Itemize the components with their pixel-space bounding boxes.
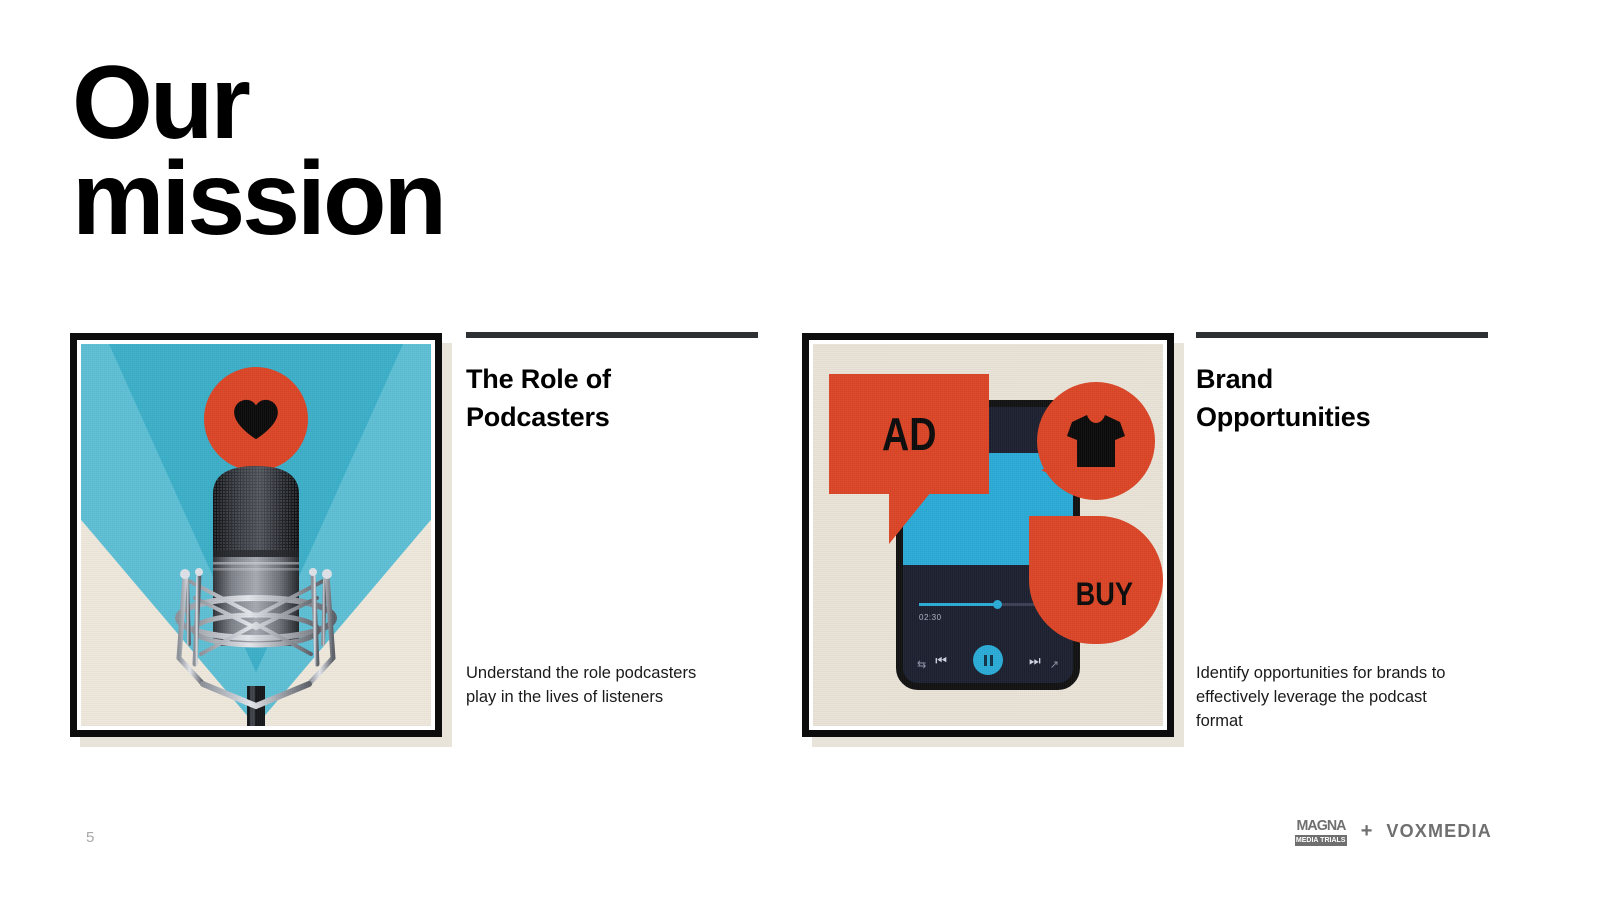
media-trials-wordmark: MEDIA TRIALS [1295, 835, 1347, 846]
pause-icon[interactable] [973, 645, 1003, 675]
figure-frame [70, 333, 442, 737]
skip-next-icon[interactable]: ⏭ [1029, 654, 1041, 667]
figure-frame: 02:30 ⏮ ⏭ ⇆ ↗ AD [802, 333, 1174, 737]
voxmedia-logo: VOXMEDIA [1386, 821, 1492, 842]
magna-wordmark: MAGNA [1296, 818, 1345, 833]
column-heading: Brand Opportunities [1196, 360, 1488, 437]
skip-previous-icon[interactable]: ⏮ [935, 654, 947, 667]
column-heading: The Role of Podcasters [466, 360, 758, 437]
pause-bars [984, 655, 993, 666]
page-number: 5 [86, 829, 94, 846]
microphone-graphic [151, 458, 361, 726]
column-rule [466, 332, 758, 338]
column-body: Understand the role podcasters play in t… [466, 662, 728, 710]
figure-artwork [81, 344, 431, 726]
footer-logos: MAGNA MEDIA TRIALS + VOXMEDIA [1295, 818, 1492, 846]
tshirt-speech-bubble [1037, 382, 1155, 500]
magna-media-trials-logo: MAGNA MEDIA TRIALS [1295, 818, 1347, 846]
column-body: Identify opportunities for brands to eff… [1196, 662, 1458, 734]
heart-icon [233, 398, 279, 440]
buy-bubble: BUY [1029, 516, 1163, 644]
column-role-of-podcasters: The Role of Podcasters Understand the ro… [466, 332, 758, 437]
speech-bubble [204, 367, 308, 471]
figure-artwork: 02:30 ⏮ ⏭ ⇆ ↗ AD [813, 344, 1163, 726]
repeat-icon[interactable]: ⇆ [917, 658, 926, 671]
playback-controls: ⏮ ⏭ [903, 645, 1073, 675]
figure-microphone [70, 333, 442, 737]
plus-separator: + [1361, 820, 1373, 843]
share-icon[interactable]: ↗ [1050, 658, 1059, 671]
column-rule [1196, 332, 1488, 338]
playback-timestamp: 02:30 [919, 613, 942, 622]
ad-speech-bubble: AD [829, 374, 989, 494]
figure-phone-ads: 02:30 ⏮ ⏭ ⇆ ↗ AD [802, 333, 1174, 737]
column-brand-opportunities: Brand Opportunities Identify opportuniti… [1196, 332, 1488, 437]
ad-label: AD [882, 407, 936, 461]
page-title: Our mission [72, 56, 444, 247]
progress-fill [919, 603, 997, 606]
tshirt-icon [1066, 413, 1126, 469]
slide-root: Our mission [0, 0, 1600, 900]
buy-label: BUY [1076, 576, 1133, 613]
progress-knob[interactable] [993, 600, 1002, 609]
microphone-svg [151, 458, 361, 726]
